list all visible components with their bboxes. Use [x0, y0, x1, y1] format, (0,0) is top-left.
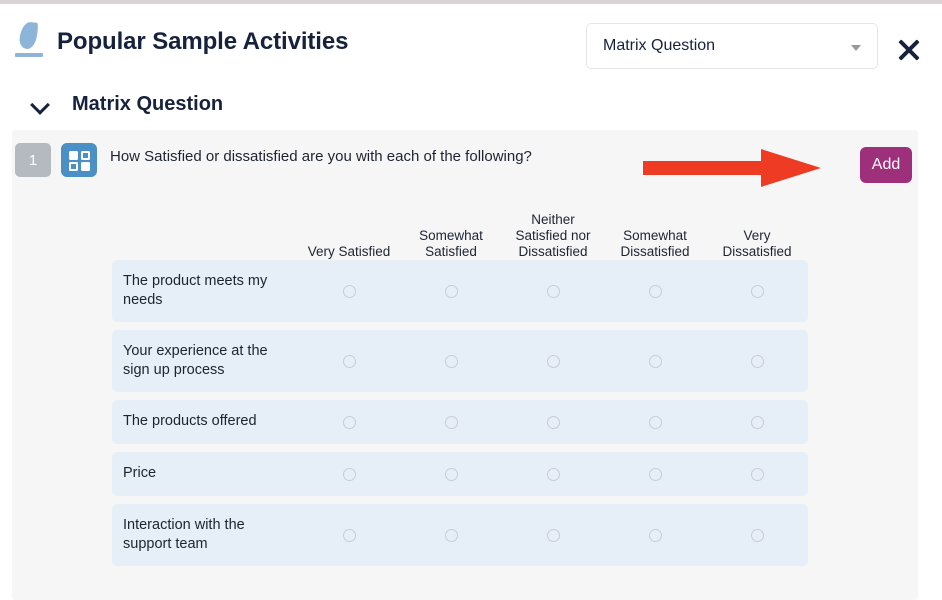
matrix-option-cell[interactable]: [400, 416, 502, 429]
matrix-row: The products offered: [112, 400, 808, 444]
matrix-option-cell[interactable]: [400, 468, 502, 481]
matrix-option-cell[interactable]: [706, 355, 808, 368]
matrix-table: Very SatisfiedSomewhat SatisfiedNeither …: [112, 195, 808, 574]
radio-button[interactable]: [547, 416, 560, 429]
matrix-column-header: Somewhat Dissatisfied: [604, 195, 706, 260]
chevron-down-icon[interactable]: [30, 94, 50, 114]
matrix-row: Price: [112, 452, 808, 496]
radio-button[interactable]: [751, 416, 764, 429]
radio-button[interactable]: [445, 468, 458, 481]
matrix-option-cell[interactable]: [604, 285, 706, 298]
question-number-badge: 1: [15, 143, 51, 177]
question-type-select[interactable]: Matrix Question: [586, 23, 878, 69]
radio-button[interactable]: [343, 529, 356, 542]
radio-button[interactable]: [751, 468, 764, 481]
radio-button[interactable]: [649, 285, 662, 298]
matrix-row: The product meets my needs: [112, 260, 808, 322]
matrix-option-cell[interactable]: [298, 529, 400, 542]
matrix-option-cell[interactable]: [502, 529, 604, 542]
question-toolbar: 1 How Satisfied or dissatisfied are you …: [12, 130, 918, 190]
matrix-column-header: Somewhat Satisfied: [400, 195, 502, 260]
flame-logo-icon: [14, 20, 44, 64]
close-icon[interactable]: [893, 35, 925, 67]
matrix-row-label: Price: [112, 452, 298, 496]
matrix-column-headers: Very SatisfiedSomewhat SatisfiedNeither …: [112, 195, 808, 260]
matrix-option-cell[interactable]: [706, 285, 808, 298]
matrix-option-cell[interactable]: [502, 468, 604, 481]
radio-button[interactable]: [751, 355, 764, 368]
matrix-row-options: [298, 260, 808, 322]
matrix-option-cell[interactable]: [604, 468, 706, 481]
question-card: 1 How Satisfied or dissatisfied are you …: [12, 130, 918, 600]
matrix-column-header: Very Dissatisfied: [706, 195, 808, 260]
page-title: Popular Sample Activities: [57, 28, 348, 56]
matrix-row-options: [298, 504, 808, 566]
radio-button[interactable]: [547, 285, 560, 298]
matrix-row: Interaction with the support team: [112, 504, 808, 566]
radio-button[interactable]: [649, 468, 662, 481]
radio-button[interactable]: [343, 416, 356, 429]
brand: Popular Sample Activities: [14, 20, 348, 64]
radio-button[interactable]: [751, 285, 764, 298]
matrix-row-options: [298, 330, 808, 392]
matrix-row-options: [298, 400, 808, 444]
radio-button[interactable]: [343, 285, 356, 298]
chevron-down-icon: [851, 45, 861, 51]
radio-button[interactable]: [649, 355, 662, 368]
radio-button[interactable]: [751, 529, 764, 542]
radio-button[interactable]: [445, 285, 458, 298]
matrix-column-header: Very Satisfied: [298, 195, 400, 260]
radio-button[interactable]: [547, 355, 560, 368]
radio-button[interactable]: [547, 468, 560, 481]
radio-button[interactable]: [445, 529, 458, 542]
matrix-row-label: Your experience at the sign up process: [112, 330, 298, 392]
radio-button[interactable]: [547, 529, 560, 542]
matrix-option-cell[interactable]: [400, 529, 502, 542]
section-header: Matrix Question: [0, 84, 942, 124]
matrix-option-cell[interactable]: [502, 355, 604, 368]
matrix-option-cell[interactable]: [502, 416, 604, 429]
radio-button[interactable]: [343, 355, 356, 368]
matrix-option-cell[interactable]: [706, 416, 808, 429]
matrix-row-label: The product meets my needs: [112, 260, 298, 322]
question-type-value: Matrix Question: [603, 37, 715, 55]
matrix-option-cell[interactable]: [400, 355, 502, 368]
question-text: How Satisfied or dissatisfied are you wi…: [110, 148, 532, 165]
matrix-row-label: Interaction with the support team: [112, 504, 298, 566]
matrix-option-cell[interactable]: [400, 285, 502, 298]
add-button[interactable]: Add: [860, 147, 912, 183]
matrix-option-cell[interactable]: [604, 416, 706, 429]
matrix-option-cell[interactable]: [298, 285, 400, 298]
matrix-grid-icon[interactable]: [61, 143, 97, 177]
section-title: Matrix Question: [72, 93, 223, 116]
matrix-option-cell[interactable]: [604, 355, 706, 368]
radio-button[interactable]: [445, 416, 458, 429]
matrix-option-cell[interactable]: [298, 416, 400, 429]
matrix-option-cell[interactable]: [706, 529, 808, 542]
matrix-option-cell[interactable]: [502, 285, 604, 298]
matrix-body: The product meets my needsYour experienc…: [112, 260, 808, 566]
app-header: Popular Sample Activities Matrix Questio…: [0, 4, 942, 76]
matrix-option-cell[interactable]: [604, 529, 706, 542]
radio-button[interactable]: [649, 416, 662, 429]
radio-button[interactable]: [445, 355, 458, 368]
radio-button[interactable]: [343, 468, 356, 481]
matrix-option-cell[interactable]: [298, 468, 400, 481]
matrix-option-cell[interactable]: [706, 468, 808, 481]
matrix-column-header: Neither Satisfied nor Dissatisfied: [502, 195, 604, 260]
matrix-row-options: [298, 452, 808, 496]
matrix-row-label: The products offered: [112, 400, 298, 444]
matrix-option-cell[interactable]: [298, 355, 400, 368]
radio-button[interactable]: [649, 529, 662, 542]
matrix-row: Your experience at the sign up process: [112, 330, 808, 392]
